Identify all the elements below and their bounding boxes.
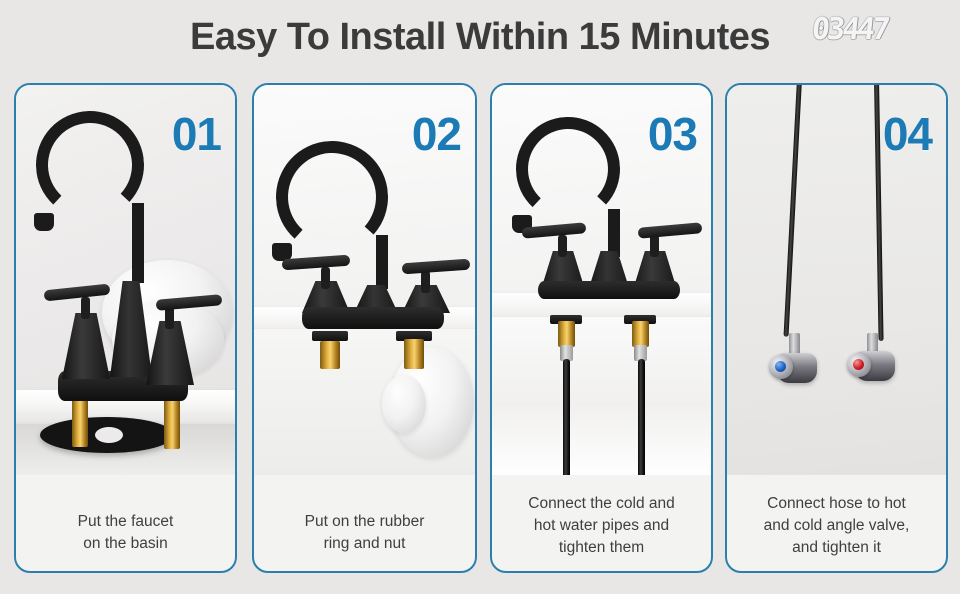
handle-stem-right <box>650 235 659 257</box>
step-02-photo: 02 <box>254 85 475 475</box>
step-04-photo: 04 <box>727 85 946 475</box>
step-02-caption-line-1: Put on the rubber <box>262 511 467 533</box>
step-03-caption: Connect the cold and hot water pipes and… <box>492 493 711 559</box>
handle-bar-right <box>402 259 471 275</box>
brass-shank-left <box>558 321 575 347</box>
step-01-caption-line-1: Put the faucet <box>24 511 227 533</box>
faucet-base-plate <box>538 281 680 299</box>
faucet-base-plate <box>302 307 444 329</box>
step-02-caption: Put on the rubber ring and nut <box>254 511 475 555</box>
hot-marker-dot <box>853 359 864 370</box>
supply-hose-left <box>784 85 802 337</box>
spout-riser <box>132 203 144 283</box>
step-01-caption-line-2: on the basin <box>24 533 227 555</box>
header: Easy To Install Within 15 Minutes 03447 <box>0 0 960 80</box>
step-number-04: 04 <box>883 107 932 161</box>
spout-riser <box>376 235 388 289</box>
brass-nut-right <box>404 339 424 369</box>
step-card-01[interactable]: 01 Put the faucet on the basin <box>14 83 237 573</box>
step-03-photo: 03 <box>492 85 711 475</box>
deck-plate-hole <box>95 427 123 443</box>
handle-stem-left <box>321 267 330 289</box>
handle-stem-left <box>81 297 90 319</box>
step-02-caption-line-2: ring and nut <box>262 533 467 555</box>
gloved-thumb <box>382 375 426 433</box>
brass-shank-right <box>632 321 649 347</box>
step-04-caption-line-1: Connect hose to hot <box>735 493 938 515</box>
step-01-caption: Put the faucet on the basin <box>16 511 235 555</box>
handle-bar-left <box>44 284 111 302</box>
step-01-photo: 01 <box>16 85 235 475</box>
step-card-03[interactable]: 03 Connect the cold and hot water pipes … <box>490 83 713 573</box>
step-card-02[interactable]: 02 Put on the rubber ring and nut <box>252 83 477 573</box>
step-number-01: 01 <box>172 107 221 161</box>
gooseneck-spout <box>34 109 146 221</box>
supply-hose-left <box>563 359 570 475</box>
step-card-04[interactable]: 04 Connect hose to hot and cold angle va… <box>725 83 948 573</box>
steps-row: 01 Put the faucet on the basin <box>0 83 960 575</box>
watermark-text: 03447 <box>810 12 889 47</box>
spout-tip <box>34 213 54 231</box>
step-03-caption-line-3: tighten them <box>500 537 703 559</box>
step-04-caption-line-3: and tighten it <box>735 537 938 559</box>
rubber-ring-left <box>312 331 348 341</box>
gooseneck-spout <box>273 138 391 256</box>
spout-riser <box>608 209 620 257</box>
brass-shank-right <box>164 397 180 449</box>
handle-stem-left <box>558 235 567 257</box>
gooseneck-spout <box>514 115 622 223</box>
step-04-caption-line-2: and cold angle valve, <box>735 515 938 537</box>
valve-connector-left <box>789 333 800 355</box>
brass-shank-left <box>72 397 88 447</box>
supply-hose-right <box>638 359 645 475</box>
counter-underside <box>492 317 711 475</box>
handle-bar-right <box>638 222 703 239</box>
handle-stem-right <box>165 307 174 329</box>
step-03-caption-line-2: hot water pipes and <box>500 515 703 537</box>
step-03-caption-line-1: Connect the cold and <box>500 493 703 515</box>
step-number-03: 03 <box>648 107 697 161</box>
step-04-caption: Connect hose to hot and cold angle valve… <box>727 493 946 559</box>
handle-stem-right <box>421 271 430 293</box>
brass-nut-left <box>320 341 340 369</box>
cold-marker-dot <box>775 361 786 372</box>
step-number-02: 02 <box>412 107 461 161</box>
handle-bar-left <box>282 255 351 271</box>
